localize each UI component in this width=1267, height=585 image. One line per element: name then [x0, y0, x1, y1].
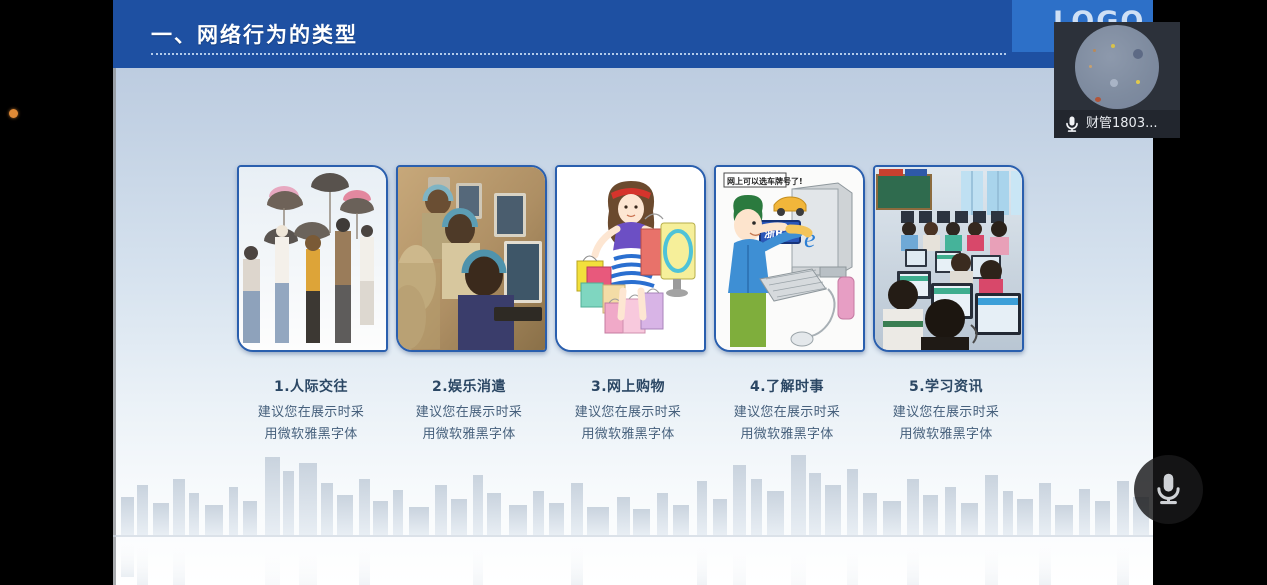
- caption-1-line2: 用微软雅黑字体: [223, 424, 399, 446]
- caption-1-body: 建议您在展示时采 用微软雅黑字体: [223, 402, 399, 446]
- photo-computer-classroom-students: [875, 167, 1022, 350]
- card-2[interactable]: [396, 165, 543, 348]
- card-5-image-frame: [873, 165, 1024, 352]
- caption-2-line1: 建议您在展示时采: [381, 402, 557, 424]
- caption-3: 3.网上购物 建议您在展示时采 用微软雅黑字体: [540, 378, 716, 446]
- avatar-speck: [1093, 49, 1096, 52]
- caption-5-body: 建议您在展示时采 用微软雅黑字体: [858, 402, 1034, 446]
- title-underline-rule: [151, 53, 1006, 55]
- presentation-slide[interactable]: LOGO 一、网络行为的类型: [113, 0, 1153, 585]
- caption-5-line1: 建议您在展示时采: [858, 402, 1034, 424]
- slide-header-band: LOGO 一、网络行为的类型: [113, 0, 1153, 68]
- screen: LOGO 一、网络行为的类型: [0, 0, 1267, 585]
- caption-4-title: 4.了解时事: [699, 378, 875, 396]
- microphone-icon[interactable]: [1062, 114, 1082, 134]
- caption-4: 4.了解时事 建议您在展示时采 用微软雅黑字体: [699, 378, 875, 446]
- caption-4-line1: 建议您在展示时采: [699, 402, 875, 424]
- card-4-image-frame: 网上可以选车牌号了! e 浙B·: [714, 165, 865, 352]
- card-3[interactable]: [555, 165, 702, 348]
- card-5[interactable]: [873, 165, 1020, 348]
- caption-3-line1: 建议您在展示时采: [540, 402, 716, 424]
- photo-people-holding-umbrellas: [239, 167, 386, 350]
- caption-2-title: 2.娱乐消遣: [381, 378, 557, 396]
- caption-2: 2.娱乐消遣 建议您在展示时采 用微软雅黑字体: [381, 378, 557, 446]
- card-2-image-frame: [396, 165, 547, 352]
- participant-name-bar: 财管1803...: [1054, 110, 1180, 138]
- microphone-icon[interactable]: [1152, 471, 1185, 508]
- participant-video-area[interactable]: [1054, 22, 1180, 110]
- avatar-speck: [1133, 49, 1143, 59]
- caption-row: 1.人际交往 建议您在展示时采 用微软雅黑字体 2.娱乐消遣 建议您在展示时采 …: [113, 378, 1153, 453]
- caption-4-body: 建议您在展示时采 用微软雅黑字体: [699, 402, 875, 446]
- caption-5-line2: 用微软雅黑字体: [858, 424, 1034, 446]
- caption-1-title: 1.人际交往: [223, 378, 399, 396]
- caption-1: 1.人际交往 建议您在展示时采 用微软雅黑字体: [223, 378, 399, 446]
- avatar: [1075, 25, 1159, 109]
- illustration-woman-shopping-bags: [557, 167, 704, 350]
- caption-4-line2: 用微软雅黑字体: [699, 424, 875, 446]
- card-3-image-frame: [555, 165, 706, 352]
- illustration-man-computer-license-plate: 网上可以选车牌号了! e 浙B·: [716, 167, 863, 350]
- card-1-image-frame: [237, 165, 388, 352]
- card-1[interactable]: [237, 165, 384, 348]
- photo-internet-cafe-headphones: [398, 167, 545, 350]
- slide-title: 一、网络行为的类型: [151, 19, 358, 49]
- avatar-speck: [1136, 80, 1140, 84]
- caption-5-title: 5.学习资讯: [858, 378, 1034, 396]
- skyline-background: [113, 435, 1153, 585]
- caption-5: 5.学习资讯 建议您在展示时采 用微软雅黑字体: [858, 378, 1034, 446]
- mic-toggle-button[interactable]: [1134, 455, 1203, 524]
- caption-3-line2: 用微软雅黑字体: [540, 424, 716, 446]
- card-4-image-caption: 网上可以选车牌号了!: [727, 176, 803, 186]
- card-row: 网上可以选车牌号了! e 浙B·: [113, 165, 1153, 360]
- avatar-speck: [1095, 97, 1101, 102]
- avatar-speck: [1089, 65, 1092, 68]
- caption-2-line2: 用微软雅黑字体: [381, 424, 557, 446]
- card-4[interactable]: 网上可以选车牌号了! e 浙B·: [714, 165, 861, 348]
- caption-3-body: 建议您在展示时采 用微软雅黑字体: [540, 402, 716, 446]
- avatar-speck: [1110, 79, 1118, 87]
- avatar-speck: [1111, 44, 1115, 48]
- caption-1-line1: 建议您在展示时采: [223, 402, 399, 424]
- recording-indicator-dot: [9, 109, 18, 118]
- participant-name: 财管1803...: [1086, 115, 1176, 133]
- caption-3-title: 3.网上购物: [540, 378, 716, 396]
- participant-thumbnail[interactable]: 财管1803...: [1054, 22, 1180, 138]
- caption-2-body: 建议您在展示时采 用微软雅黑字体: [381, 402, 557, 446]
